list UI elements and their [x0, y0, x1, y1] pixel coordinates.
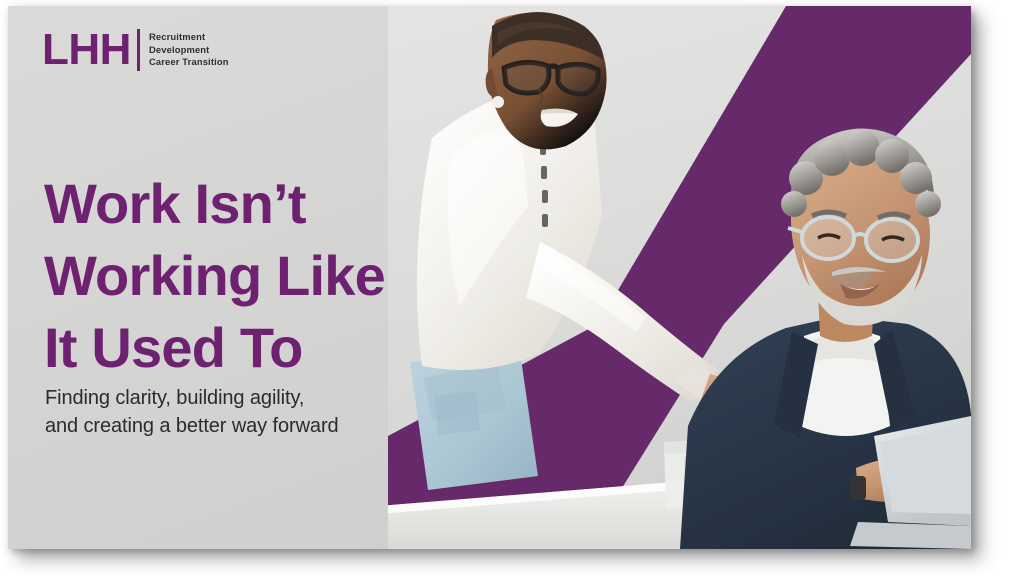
subtitle-line-1: Finding clarity, building agility, [45, 384, 435, 412]
hero-photo-illustration [388, 6, 971, 549]
headline-line-2: Working Like [44, 240, 444, 312]
slide-card: LHH Recruitment Development Career Trans… [8, 6, 971, 549]
lhh-logo: LHH Recruitment Development Career Trans… [42, 28, 229, 72]
logo-tagline: Recruitment Development Career Transitio… [149, 31, 229, 69]
subtitle-line-2: and creating a better way forward [45, 412, 435, 440]
headline-line-3: It Used To [44, 312, 444, 384]
headline-line-1: Work Isn’t [44, 168, 444, 240]
logo-tagline-line-2: Development [149, 44, 229, 57]
logo-tagline-line-3: Career Transition [149, 56, 229, 69]
logo-divider-icon [137, 29, 140, 71]
slide-subtitle: Finding clarity, building agility, and c… [45, 384, 435, 440]
slide-headline: Work Isn’t Working Like It Used To [44, 168, 444, 384]
slide-root: LHH Recruitment Development Career Trans… [0, 0, 1024, 576]
logo-wordmark: LHH [42, 28, 131, 72]
hero-photo [388, 6, 971, 549]
left-text-panel: LHH Recruitment Development Career Trans… [8, 6, 428, 549]
logo-tagline-line-1: Recruitment [149, 31, 229, 44]
